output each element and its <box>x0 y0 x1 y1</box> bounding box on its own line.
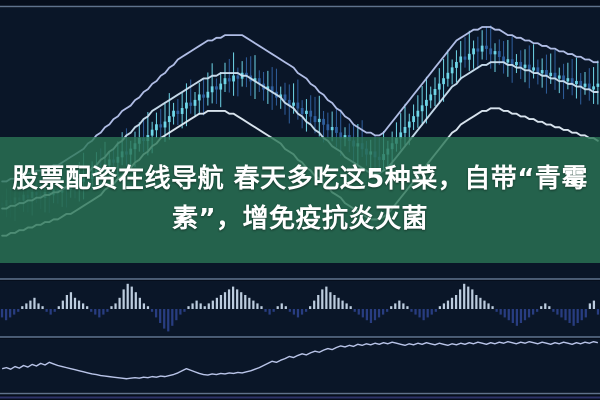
overlay-title-line-1: 股票配资在线导航 春天多吃这5种菜，自带“青霉 <box>12 164 588 194</box>
stock-chart-screenshot: 股票配资在线导航 春天多吃这5种菜，自带“青霉 素”，增免疫抗炎灭菌 <box>0 0 600 400</box>
overlay-title: 股票配资在线导航 春天多吃这5种菜，自带“青霉 素”，增免疫抗炎灭菌 <box>10 160 590 239</box>
title-overlay-band: 股票配资在线导航 春天多吃这5种菜，自带“青霉 素”，增免疫抗炎灭菌 <box>0 137 600 263</box>
overlay-title-line-2: 素”，增免疫抗炎灭菌 <box>172 204 428 234</box>
